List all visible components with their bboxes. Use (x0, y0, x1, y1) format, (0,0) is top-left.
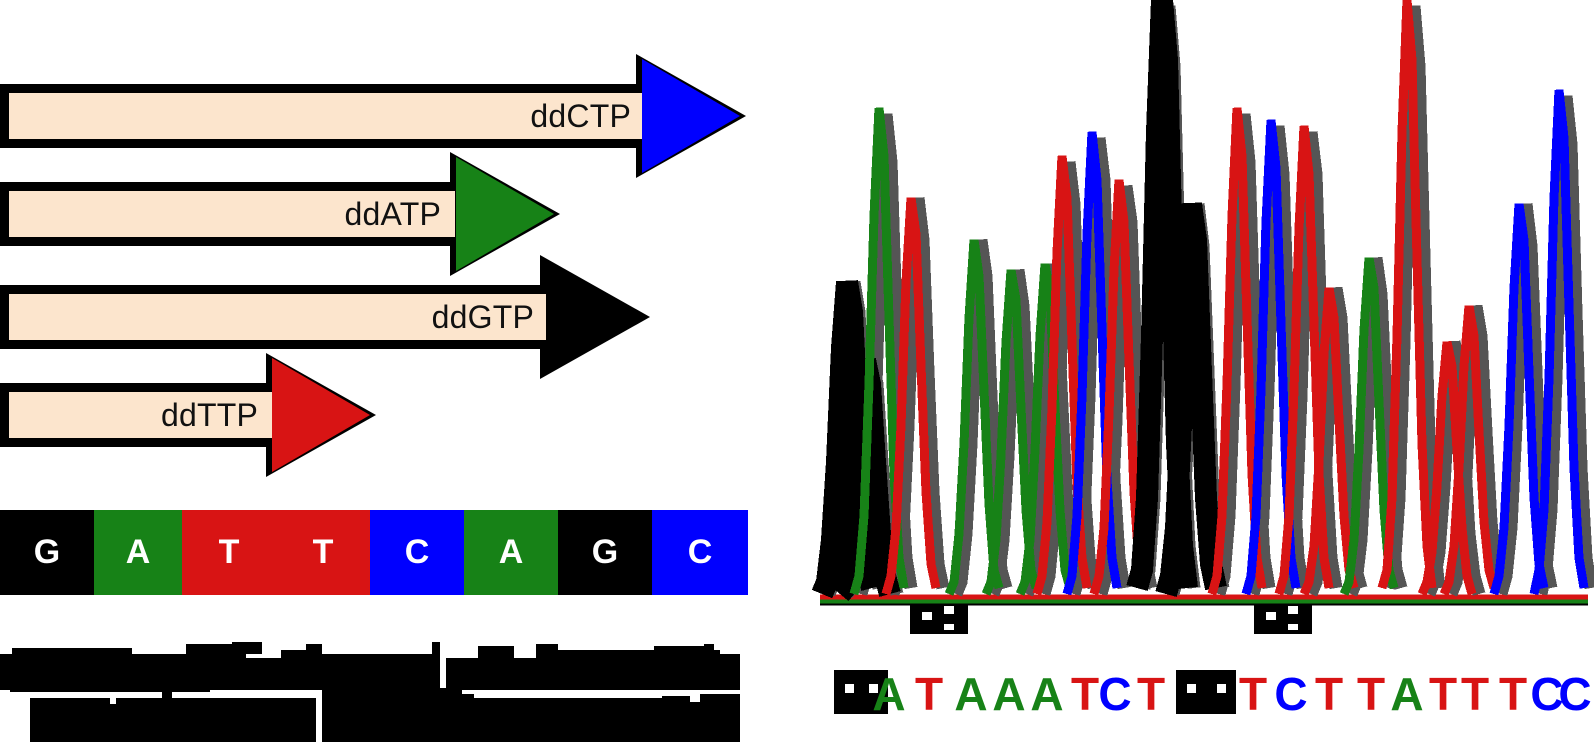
caption-redaction-block (662, 696, 690, 742)
basecall-redacted-11 (1206, 670, 1236, 714)
fragment-bar-ddctp: ddCTP (0, 84, 645, 148)
caption-redaction-block (616, 708, 634, 742)
caption-redaction-block (322, 654, 432, 690)
arrowhead-ddgtp (546, 260, 644, 374)
axis-marker-redacted-0 (910, 604, 968, 634)
basecall-redaction-hole (845, 684, 854, 693)
basecall-letter-17: T (1426, 668, 1460, 720)
axis-marker-hole (922, 612, 932, 620)
basecall-letter-9: T (1134, 668, 1168, 720)
fragment-label-ddttp: ddTTP (161, 399, 272, 431)
sequence-base-0: G (0, 510, 94, 595)
template-sequence-bar: GATTCAGC (0, 510, 748, 595)
basecall-letter-13: C (1274, 668, 1308, 720)
basecall-letter-2: A (872, 668, 906, 720)
fragment-bar-ddttp: ddTTP (0, 383, 272, 447)
axis-marker-hole (1266, 612, 1276, 620)
fragment-label-ddctp: ddCTP (530, 100, 645, 132)
arrowhead-ddctp (642, 59, 740, 173)
caption-redaction-block (306, 644, 322, 690)
caption-redaction-block (690, 702, 700, 742)
basecall-letter-3: T (912, 668, 946, 720)
basecall-redaction-hole (1217, 684, 1226, 693)
caption-redaction-block (700, 694, 740, 742)
fragment-label-ddgtp: ddGTP (432, 301, 548, 333)
basecall-row: ATAAATCTTCTTATTTCC (800, 668, 1594, 720)
basecall-letter-14: T (1312, 668, 1346, 720)
figure-canvas: ddCTP ddATP ddGTP ddTTP (0, 0, 1594, 741)
fragment-bar-ddatp: ddATP (0, 182, 455, 246)
basecall-letter-5: A (992, 668, 1026, 720)
caption-redaction-block (186, 658, 281, 690)
caption-redaction-block (116, 698, 316, 742)
axis-marker-hole (1288, 606, 1298, 614)
basecall-letter-12: T (1236, 668, 1270, 720)
sequence-base-3: T (276, 510, 370, 595)
basecall-letter-16: A (1390, 668, 1424, 720)
axis-marker-redacted-1 (1254, 604, 1312, 634)
caption-redaction-block (30, 698, 110, 742)
sequence-base-1: A (94, 510, 182, 595)
arrowhead-ddttp (272, 358, 370, 472)
basecall-letter-8: C (1098, 668, 1132, 720)
sequence-base-2: T (182, 510, 276, 595)
caption-redaction-block (432, 642, 440, 690)
axis-marker-hole (944, 624, 954, 630)
sequence-base-4: C (370, 510, 464, 595)
basecall-letter-7: T (1068, 668, 1102, 720)
chromatogram-trace (800, 0, 1594, 610)
caption-redaction-block (342, 702, 472, 742)
basecall-letter-18: T (1458, 668, 1492, 720)
basecall-letter-21: C (1558, 668, 1592, 720)
basecall-letter-6: A (1030, 668, 1064, 720)
basecall-letter-15: T (1354, 668, 1388, 720)
arrowhead-ddatp (456, 157, 554, 271)
fragment-bar-ddgtp: ddGTP (0, 285, 548, 349)
sequence-base-6: G (558, 510, 652, 595)
chromatogram-panel: ATAAATCTTCTTATTTCC (800, 0, 1594, 741)
ddntp-fragments-panel: ddCTP ddATP ddGTP ddTTP (0, 0, 800, 741)
axis-marker-hole (1288, 624, 1298, 630)
basecall-redaction-hole (1187, 684, 1196, 693)
axis-marker-hole (944, 606, 954, 614)
sequence-base-5: A (464, 510, 558, 595)
fragment-label-ddatp: ddATP (345, 198, 455, 230)
caption-redaction-block (232, 642, 262, 654)
basecall-letter-4: A (954, 668, 988, 720)
caption-redaction-block (614, 658, 654, 690)
caption-redaction-block (162, 692, 172, 702)
caption-redaction-block (714, 654, 740, 690)
figure-caption-redacted (0, 636, 740, 736)
basecall-letter-19: T (1496, 668, 1530, 720)
basecall-redacted-10 (1176, 670, 1206, 714)
sequence-base-7: C (652, 510, 748, 595)
caption-redaction-block (654, 646, 704, 690)
caption-redaction-block (66, 654, 186, 688)
caption-redaction-block (281, 650, 306, 690)
caption-redaction-block (704, 644, 714, 690)
caption-redaction-block (56, 666, 66, 674)
